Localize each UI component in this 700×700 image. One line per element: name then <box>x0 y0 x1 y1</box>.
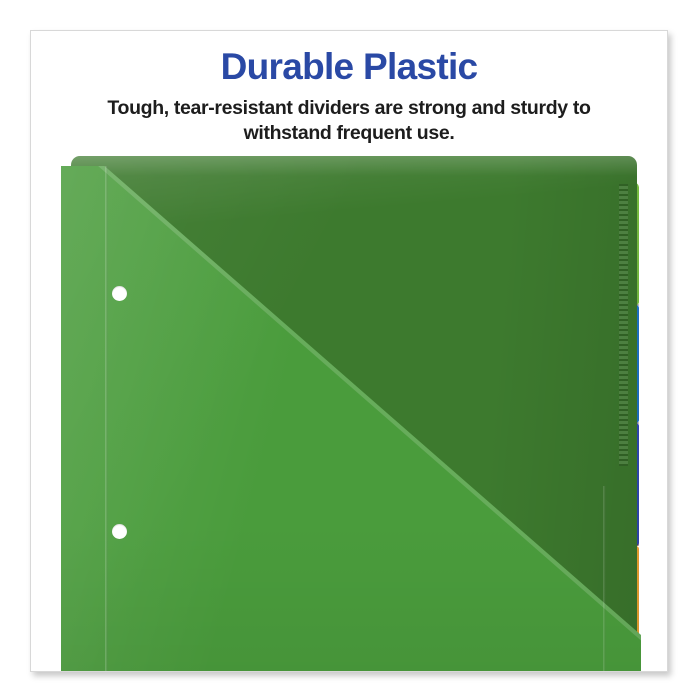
header-text-block: Durable Plastic Tough, tear-resistant di… <box>31 47 667 146</box>
page-title: Durable Plastic <box>45 47 653 87</box>
punch-hole-top <box>112 286 127 301</box>
screenshot-stage: Durable Plastic Tough, tear-resistant di… <box>0 0 700 700</box>
punch-hole-bottom <box>112 524 127 539</box>
product-photo <box>31 156 668 672</box>
page-subtitle: Tough, tear-resistant dividers are stron… <box>69 96 629 146</box>
product-image-card: Durable Plastic Tough, tear-resistant di… <box>30 30 668 672</box>
